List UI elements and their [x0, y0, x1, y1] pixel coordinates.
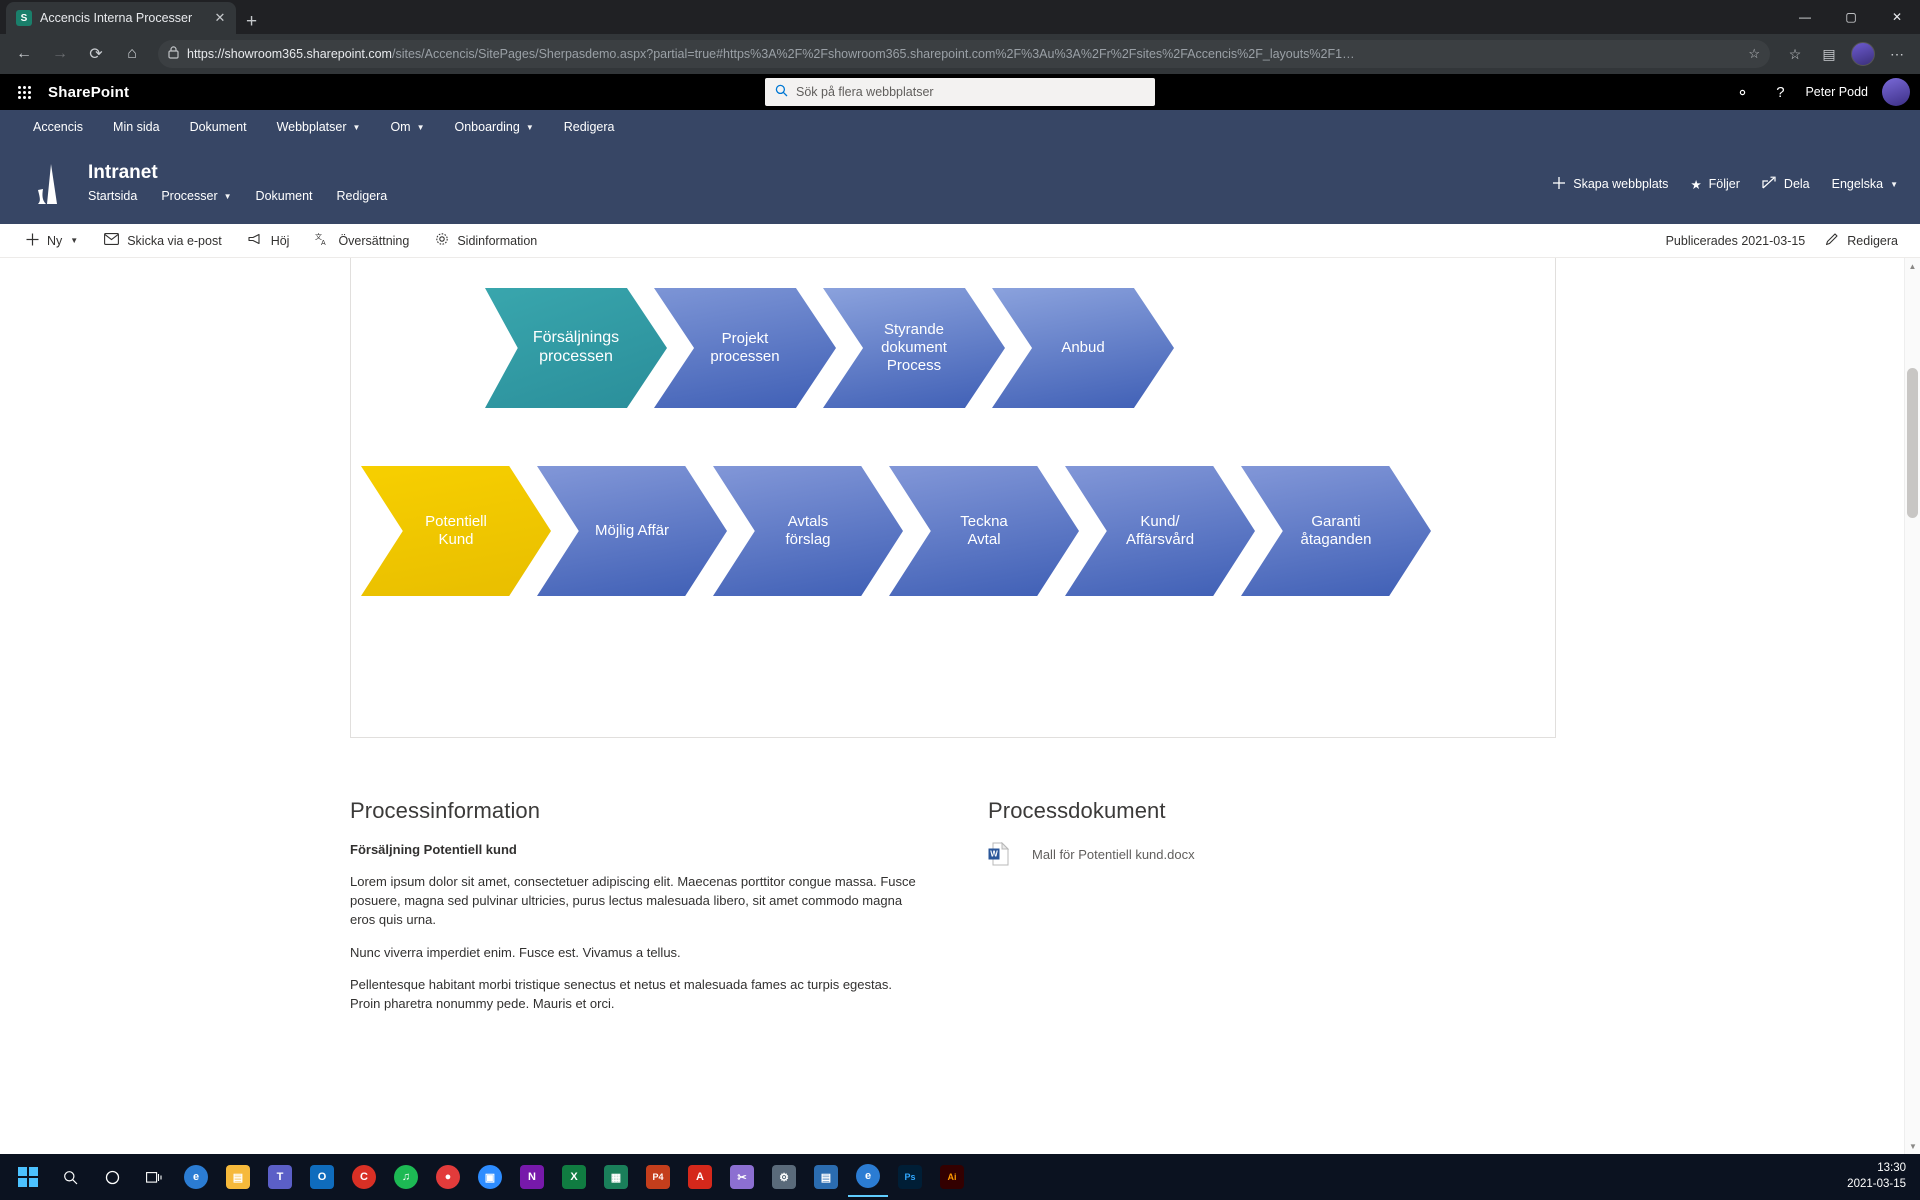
- app-launcher-icon[interactable]: [0, 86, 48, 99]
- chevron-garanti-ataganden[interactable]: Garanti åtaganden: [1241, 466, 1431, 596]
- chevron-label: Anbud: [1055, 339, 1110, 357]
- command-bar-right: Publicerades 2021-03-15 Redigera: [1666, 224, 1898, 258]
- browser-window: S Accencis Interna Processer ✕ + — ▢ ✕ ←…: [0, 0, 1920, 1200]
- chevron-forsaljningsprocessen[interactable]: Försäljnings processen: [485, 288, 667, 408]
- acrobat-icon[interactable]: A: [680, 1157, 720, 1197]
- new-button[interactable]: Ny ▼: [22, 224, 91, 258]
- web-page: SharePoint Sök på flera webbplatser ? Pe…: [0, 74, 1920, 1154]
- plus-icon: [26, 233, 39, 249]
- tab-title: Accencis Interna Processer: [40, 11, 204, 25]
- published-status: Publicerades 2021-03-15: [1666, 234, 1806, 248]
- avatar[interactable]: [1882, 78, 1910, 106]
- zoom-icon[interactable]: ▣: [470, 1157, 510, 1197]
- paragraph: Nunc viverra imperdiet enim. Fusce est. …: [350, 944, 918, 963]
- edge-icon[interactable]: e: [176, 1157, 216, 1197]
- home-icon[interactable]: ⌂: [116, 38, 148, 70]
- share-label: Dela: [1784, 177, 1810, 191]
- column-processinformation: Processinformation Försäljning Potentiel…: [350, 798, 918, 1028]
- browser-toolbar: ← → ⟳ ⌂ https://showroom365.sharepoint.c…: [0, 34, 1920, 74]
- site-nav-redigera[interactable]: Redigera: [337, 187, 402, 205]
- search-icon: [775, 84, 788, 100]
- chevron-avtalsforslag[interactable]: Avtals förslag: [713, 466, 903, 596]
- nav-item-label: Webbplatser: [277, 120, 347, 134]
- translate-icon: 文A: [315, 232, 330, 249]
- collections-icon[interactable]: ▤: [1814, 39, 1844, 69]
- process-row-top: Försäljnings processen Projekt processen…: [511, 288, 1174, 408]
- site-nav-label: Processer: [161, 189, 217, 203]
- spotify-icon[interactable]: ♫: [386, 1157, 426, 1197]
- photoshop-icon[interactable]: Ps: [890, 1157, 930, 1197]
- translation-button[interactable]: 文A Översättning: [302, 224, 422, 258]
- chevron-label: Avtals förslag: [779, 513, 836, 548]
- site-nav-startsida[interactable]: Startsida: [88, 187, 151, 205]
- chevron-down-icon: ▼: [1890, 180, 1898, 189]
- translation-label: Översättning: [338, 234, 409, 248]
- window-close-button[interactable]: ✕: [1874, 0, 1920, 34]
- scroll-down-icon[interactable]: ▼: [1905, 1138, 1920, 1154]
- word-document-icon: W: [988, 842, 1010, 866]
- profile-icon[interactable]: [1848, 39, 1878, 69]
- browser-tab[interactable]: S Accencis Interna Processer ✕: [6, 2, 236, 34]
- document-name[interactable]: Mall för Potentiell kund.docx: [1032, 847, 1195, 862]
- calculator-icon[interactable]: ▤: [806, 1157, 846, 1197]
- chrome-icon[interactable]: C: [344, 1157, 384, 1197]
- megaphone-icon: [248, 233, 263, 248]
- section-heading: Processdokument: [988, 798, 1556, 824]
- subsection-heading: Försäljning Potentiell kund: [350, 842, 918, 857]
- chevron-projektprocessen[interactable]: Projekt processen: [654, 288, 836, 408]
- star-icon[interactable]: ☆: [1748, 46, 1760, 62]
- recorder-icon[interactable]: ●: [428, 1157, 468, 1197]
- settings-icon[interactable]: ⚙: [764, 1157, 804, 1197]
- accencis-logo: [22, 156, 78, 212]
- send-email-label: Skicka via e-post: [127, 234, 221, 248]
- clock-time: 13:30: [1877, 1161, 1906, 1177]
- nav-item-webbplatser[interactable]: Webbplatser ▼: [262, 110, 376, 144]
- share-button[interactable]: Dela: [1762, 176, 1810, 192]
- nav-item-label: Onboarding: [455, 120, 520, 134]
- powerpoint-icon[interactable]: P4: [638, 1157, 678, 1197]
- section-heading: Processinformation: [350, 798, 918, 824]
- site-header-actions: Skapa webbplats ★ Följer Dela Engelska ▼: [1552, 176, 1898, 193]
- search-icon[interactable]: [50, 1157, 90, 1197]
- clock-date: 2021-03-15: [1847, 1177, 1906, 1193]
- sharepoint-brand[interactable]: SharePoint: [48, 84, 129, 101]
- new-label: Ny: [47, 234, 62, 248]
- nav-item-dokument[interactable]: Dokument: [175, 110, 262, 144]
- sharepoint-favicon: S: [16, 10, 32, 26]
- process-row-bottom: Potentiell Kund Möjlig Affär Avtals förs…: [361, 466, 1431, 596]
- chevron-label: Garanti åtaganden: [1295, 513, 1378, 548]
- pencil-icon: [1825, 232, 1839, 249]
- edit-button[interactable]: Redigera: [1825, 224, 1898, 258]
- address-bar-actions: ☆: [1748, 46, 1760, 62]
- site-nav-dokument[interactable]: Dokument: [256, 187, 327, 205]
- chevron-down-icon: ▼: [353, 123, 361, 132]
- help-icon[interactable]: ?: [1763, 74, 1797, 110]
- excel-icon[interactable]: X: [554, 1157, 594, 1197]
- favorites-icon[interactable]: ☆: [1780, 39, 1810, 69]
- nav-item-label: Dokument: [190, 120, 247, 134]
- chevron-mojlig-affar[interactable]: Möjlig Affär: [537, 466, 727, 596]
- site-nav-label: Dokument: [256, 189, 313, 203]
- file-explorer-icon[interactable]: ▤: [218, 1157, 258, 1197]
- mail-icon: [104, 233, 119, 248]
- svg-text:A: A: [321, 240, 326, 246]
- create-site-label: Skapa webbplats: [1573, 177, 1668, 191]
- forward-icon[interactable]: →: [44, 38, 76, 70]
- follow-label: Följer: [1709, 177, 1740, 191]
- chevron-label: Teckna Avtal: [954, 513, 1014, 548]
- url-text: https://showroom365.sharepoint.com/sites…: [187, 47, 1355, 61]
- star-icon: ★: [1690, 177, 1701, 192]
- chevron-label: Försäljnings processen: [527, 329, 625, 367]
- onenote-icon[interactable]: N: [512, 1157, 552, 1197]
- svg-text:W: W: [990, 850, 998, 859]
- close-icon[interactable]: ✕: [212, 10, 228, 26]
- content-columns: Processinformation Försäljning Potentiel…: [350, 798, 1556, 1028]
- search-placeholder: Sök på flera webbplatser: [796, 85, 934, 99]
- promote-button[interactable]: Höj: [235, 224, 303, 258]
- reload-icon[interactable]: ⟳: [80, 38, 112, 70]
- chevron-label: Projekt processen: [704, 330, 785, 365]
- url-path: /sites/Accencis/SitePages/Sherpasdemo.as…: [392, 47, 1355, 61]
- chevron-potentiell-kund[interactable]: Potentiell Kund: [361, 466, 551, 596]
- promote-label: Höj: [271, 234, 290, 248]
- site-navigation: Startsida Processer ▼ Dokument Redigera: [88, 187, 411, 205]
- scroll-up-icon[interactable]: ▲: [1905, 258, 1920, 274]
- nav-item-redigera[interactable]: Redigera: [549, 110, 630, 144]
- nav-item-accencis[interactable]: Accencis: [18, 110, 98, 144]
- site-nav-label: Redigera: [337, 189, 388, 203]
- page-info-button[interactable]: Sidinformation: [422, 224, 550, 258]
- chevron-kund-affarsvard[interactable]: Kund/ Affärsvård: [1065, 466, 1255, 596]
- url-host: https://showroom365.sharepoint.com: [187, 47, 392, 61]
- suite-actions: ? Peter Podd: [1725, 74, 1920, 110]
- language-selector[interactable]: Engelska ▼: [1832, 177, 1898, 191]
- process-diagram[interactable]: Försäljnings processen Projekt processen…: [350, 258, 1556, 738]
- gear-icon: [435, 232, 449, 249]
- illustrator-icon[interactable]: Ai: [932, 1157, 972, 1197]
- chevron-teckna-avtal[interactable]: Teckna Avtal: [889, 466, 1079, 596]
- nav-item-label: Om: [390, 120, 410, 134]
- windows-start-icon[interactable]: [8, 1157, 48, 1197]
- page-title[interactable]: Intranet: [88, 163, 411, 184]
- lock-icon: [168, 46, 179, 62]
- share-icon: [1762, 176, 1777, 192]
- nav-item-onboarding[interactable]: Onboarding ▼: [440, 110, 549, 144]
- language-label: Engelska: [1832, 177, 1883, 191]
- chevron-down-icon: ▼: [70, 236, 78, 245]
- taskbar-clock[interactable]: 13:30 2021-03-15: [1847, 1154, 1906, 1200]
- global-navigation: Accencis Min sida Dokument Webbplatser ▼…: [0, 110, 1920, 144]
- edit-label: Redigera: [1847, 234, 1898, 248]
- chevron-label: Potentiell Kund: [419, 513, 493, 548]
- search-input[interactable]: Sök på flera webbplatser: [765, 78, 1155, 106]
- column-processdokument: Processdokument W Mall för Potenti: [988, 798, 1556, 1028]
- chevron-down-icon: ▼: [224, 192, 232, 201]
- document-list-item[interactable]: W Mall för Potentiell kund.docx: [988, 842, 1556, 866]
- chevron-label: Möjlig Affär: [589, 522, 675, 540]
- planner-icon[interactable]: ▦: [596, 1157, 636, 1197]
- page-scrollbar[interactable]: ▲ ▼: [1904, 258, 1920, 1154]
- settings-more-icon[interactable]: ⋯: [1882, 39, 1912, 69]
- nav-item-label: Accencis: [33, 120, 83, 134]
- address-bar[interactable]: https://showroom365.sharepoint.com/sites…: [158, 40, 1770, 68]
- suite-bar: SharePoint Sök på flera webbplatser ? Pe…: [0, 74, 1920, 110]
- browser-active-icon[interactable]: e: [848, 1157, 888, 1197]
- maximize-button[interactable]: ▢: [1828, 0, 1874, 34]
- tab-strip: S Accencis Interna Processer ✕ + — ▢ ✕: [0, 0, 1920, 34]
- page-info-label: Sidinformation: [457, 234, 537, 248]
- paragraph: Pellentesque habitant morbi tristique se…: [350, 976, 918, 1014]
- create-site-button[interactable]: Skapa webbplats: [1552, 176, 1668, 193]
- task-view-icon[interactable]: [134, 1157, 174, 1197]
- windows-taskbar: e ▤ T O C ♫ ● ▣ N X ▦ P4 A ✂ ⚙ ▤ e Ps Ai…: [0, 1154, 1920, 1200]
- nav-item-om[interactable]: Om ▼: [375, 110, 439, 144]
- paragraph: Lorem ipsum dolor sit amet, consectetuer…: [350, 873, 918, 930]
- outlook-icon[interactable]: O: [302, 1157, 342, 1197]
- chevron-down-icon: ▼: [417, 123, 425, 132]
- nav-item-label: Min sida: [113, 120, 160, 134]
- teams-icon[interactable]: T: [260, 1157, 300, 1197]
- chevron-label: Kund/ Affärsvård: [1120, 513, 1200, 548]
- site-title-block: Intranet Startsida Processer ▼ Dokument …: [88, 163, 411, 206]
- nav-item-min-sida[interactable]: Min sida: [98, 110, 175, 144]
- nav-item-label: Redigera: [564, 120, 615, 134]
- back-icon[interactable]: ←: [8, 38, 40, 70]
- chevron-down-icon: ▼: [526, 123, 534, 132]
- user-name[interactable]: Peter Podd: [1801, 85, 1878, 99]
- chevron-label: Styrande dokument Process: [875, 321, 953, 374]
- send-email-button[interactable]: Skicka via e-post: [91, 224, 234, 258]
- minimize-button[interactable]: —: [1782, 0, 1828, 34]
- command-bar: Ny ▼ Skicka via e-post Höj 文A Översättni: [0, 224, 1920, 258]
- site-nav-processer[interactable]: Processer ▼: [161, 187, 245, 205]
- chevron-anbud[interactable]: Anbud: [992, 288, 1174, 408]
- window-controls: — ▢ ✕: [1782, 0, 1920, 34]
- plus-icon: [1552, 176, 1566, 193]
- scrollbar-thumb[interactable]: [1907, 368, 1918, 518]
- site-header: Intranet Startsida Processer ▼ Dokument …: [0, 144, 1920, 224]
- page-canvas: Försäljnings processen Projekt processen…: [0, 258, 1920, 1154]
- gear-icon[interactable]: [1725, 74, 1759, 110]
- follow-button[interactable]: ★ Följer: [1690, 177, 1739, 192]
- new-tab-button[interactable]: +: [246, 12, 257, 31]
- chevron-styrande-dokument-process[interactable]: Styrande dokument Process: [823, 288, 1005, 408]
- site-nav-label: Startsida: [88, 189, 137, 203]
- snip-icon[interactable]: ✂: [722, 1157, 762, 1197]
- cortana-icon[interactable]: [92, 1157, 132, 1197]
